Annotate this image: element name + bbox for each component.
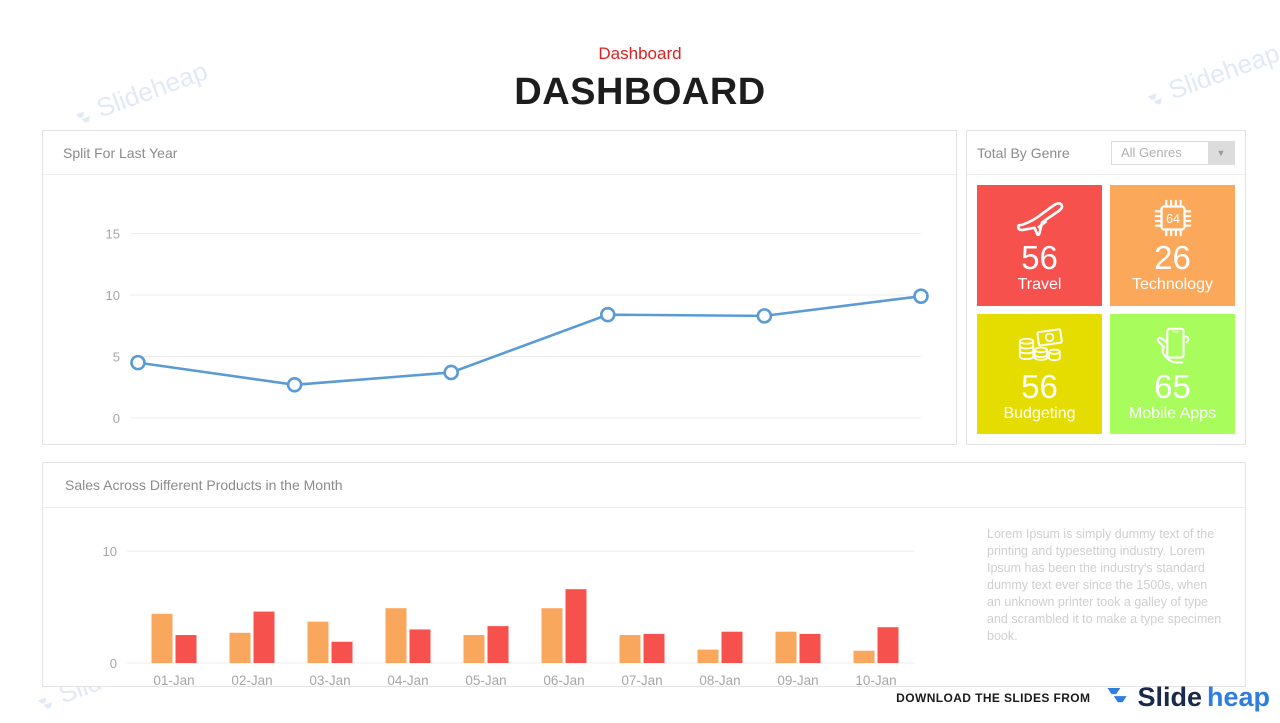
genre-panel-title: Total By Genre <box>977 145 1070 161</box>
bar <box>722 632 743 663</box>
genre-tile-technology[interactable]: 6426Technology <box>1110 185 1235 306</box>
x-axis-label: 09-Jan <box>777 673 818 688</box>
line-chart-panel: Split For Last Year 05101520092010201120… <box>42 130 957 445</box>
x-axis-label: 02-Jan <box>231 673 272 688</box>
x-axis-label: 06-Jan <box>543 673 584 688</box>
bar <box>254 612 275 663</box>
page-header: Dashboard DASHBOARD <box>0 0 1280 114</box>
money-coins-icon <box>1015 324 1065 370</box>
x-axis-label: 05-Jan <box>465 673 506 688</box>
bar <box>152 614 173 663</box>
slideheap-logo-icon <box>32 687 60 715</box>
chevron-down-icon[interactable]: ▼ <box>1208 142 1234 164</box>
airplane-icon <box>1014 195 1066 241</box>
bar <box>854 651 875 663</box>
bar <box>176 635 197 663</box>
genre-panel-header: Total By Genre All Genres ▼ <box>967 131 1245 175</box>
line-chart-plot: 051015200920102011201220132014 <box>43 175 956 444</box>
cpu-chip-icon: 64 <box>1150 195 1196 241</box>
bar-chart-description: Lorem Ipsum is simply dummy text of the … <box>963 508 1245 686</box>
bar-chart-svg: 01001-Jan02-Jan03-Jan04-Jan05-Jan06-Jan0… <box>43 508 963 688</box>
bar <box>410 629 431 663</box>
brand-slide-text: Slide <box>1137 682 1202 713</box>
x-axis-label: 07-Jan <box>621 673 662 688</box>
genre-tile-label: Mobile Apps <box>1129 404 1216 424</box>
genre-tile-value: 56 <box>1021 241 1058 275</box>
x-axis-label: 08-Jan <box>699 673 740 688</box>
line-chart-svg: 051015200920102011201220132014 <box>43 175 958 446</box>
genre-select[interactable]: All Genres ▼ <box>1111 141 1235 165</box>
bar <box>308 622 329 663</box>
svg-text:0: 0 <box>110 656 117 671</box>
slideheap-logo-icon <box>1104 681 1132 714</box>
footer-text: DOWNLOAD THE SLIDES FROM <box>896 691 1090 705</box>
x-axis-label: 01-Jan <box>153 673 194 688</box>
bar <box>776 632 797 663</box>
x-axis-label: 04-Jan <box>387 673 428 688</box>
header-kicker: Dashboard <box>0 44 1280 64</box>
genre-tile-label: Budgeting <box>1003 404 1075 424</box>
brand-heap-text: heap <box>1207 682 1270 713</box>
svg-text:15: 15 <box>106 226 120 241</box>
bar <box>464 635 485 663</box>
bar <box>878 627 899 663</box>
genre-tile-budgeting[interactable]: 56Budgeting <box>977 314 1102 435</box>
genre-tiles: 56Travel6426Technology56Budgeting65Mobil… <box>967 175 1245 444</box>
genre-tile-value: 56 <box>1021 370 1058 404</box>
genre-select-value: All Genres <box>1112 142 1208 164</box>
svg-text:10: 10 <box>103 544 117 559</box>
bar <box>620 635 641 663</box>
line-chart-header: Split For Last Year <box>43 131 956 175</box>
genre-tile-value: 26 <box>1154 241 1191 275</box>
bar <box>332 642 353 663</box>
bar <box>644 634 665 663</box>
genre-tile-travel[interactable]: 56Travel <box>977 185 1102 306</box>
page-title: DASHBOARD <box>0 70 1280 114</box>
x-axis-label: 10-Jan <box>855 673 896 688</box>
bar-chart-header: Sales Across Different Products in the M… <box>43 463 1245 508</box>
x-axis-label: 03-Jan <box>309 673 350 688</box>
bar <box>698 650 719 663</box>
bar <box>800 634 821 663</box>
bar <box>488 626 509 663</box>
genre-panel: Total By Genre All Genres ▼ 56Travel6426… <box>966 130 1246 445</box>
hand-phone-icon <box>1150 324 1196 370</box>
svg-text:10: 10 <box>106 288 120 303</box>
bar <box>386 608 407 663</box>
genre-tile-label: Technology <box>1132 275 1213 295</box>
bar-chart-body: 01001-Jan02-Jan03-Jan04-Jan05-Jan06-Jan0… <box>43 508 1245 686</box>
bar-chart-panel: Sales Across Different Products in the M… <box>42 462 1246 687</box>
bar <box>230 633 251 663</box>
bar <box>566 589 587 663</box>
svg-text:0: 0 <box>113 411 120 426</box>
footer: DOWNLOAD THE SLIDES FROM Slide heap <box>896 681 1270 714</box>
genre-tile-mobile-apps[interactable]: 65Mobile Apps <box>1110 314 1235 435</box>
line-chart-title: Split For Last Year <box>63 145 177 161</box>
svg-text:64: 64 <box>1166 212 1180 226</box>
genre-tile-label: Travel <box>1018 275 1062 295</box>
bar-chart-plot: 01001-Jan02-Jan03-Jan04-Jan05-Jan06-Jan0… <box>43 508 963 686</box>
svg-text:5: 5 <box>113 349 120 364</box>
bar <box>542 608 563 663</box>
bar-chart-title: Sales Across Different Products in the M… <box>65 477 343 493</box>
genre-tile-value: 65 <box>1154 370 1191 404</box>
slideheap-brand: Slide heap <box>1104 681 1270 714</box>
